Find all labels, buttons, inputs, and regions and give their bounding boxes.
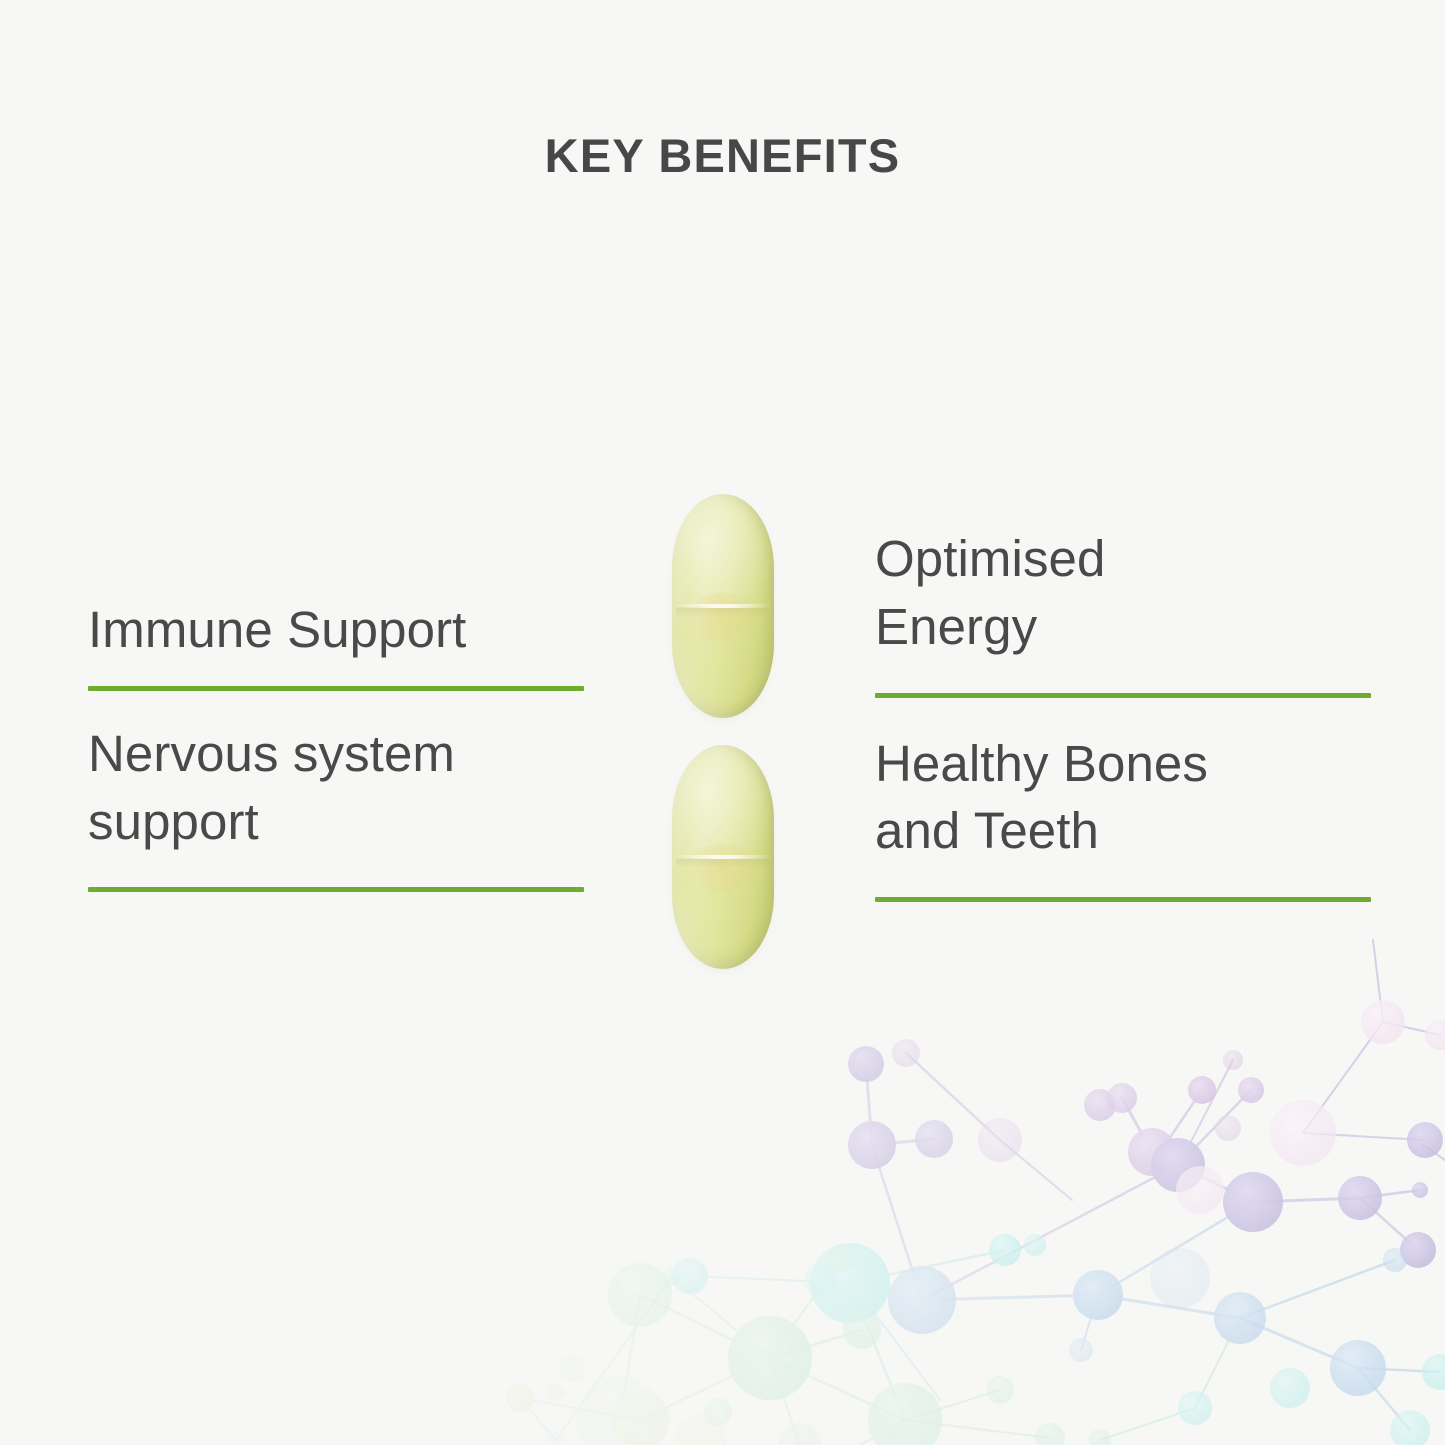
benefit-item-healthy-bones-and-teeth: Healthy Bones and Teeth [875,698,1371,903]
benefit-label: Healthy Bones and Teeth [875,730,1371,866]
benefit-label: Immune Support [88,596,584,664]
benefit-item-immune-support: Immune Support [88,470,584,691]
tablet-image-top [672,494,774,718]
benefit-label: Nervous system support [88,720,584,856]
tablet-score-line [674,855,772,859]
benefits-column-left: Immune Support Nervous system support [88,470,584,892]
product-tablet-group [668,494,778,969]
benefit-item-optimised-energy: Optimised Energy [875,470,1371,698]
infographic-canvas: KEY BENEFITS Immune Support Nervous syst… [0,0,1445,1445]
page-title: KEY BENEFITS [0,128,1445,183]
tablet-score-shadow [676,607,770,616]
benefit-divider [875,897,1371,902]
tablet-highlight [686,593,758,642]
benefits-column-right: Optimised Energy Healthy Bones and Teeth [875,470,1371,902]
benefit-label: Optimised Energy [875,525,1371,661]
benefit-divider [88,887,584,892]
tablet-score-line [674,604,772,608]
tablet-image-bottom [672,745,774,969]
tablet-score-shadow [676,858,770,867]
tablet-highlight [686,844,758,893]
benefit-item-nervous-system-support: Nervous system support [88,691,584,893]
